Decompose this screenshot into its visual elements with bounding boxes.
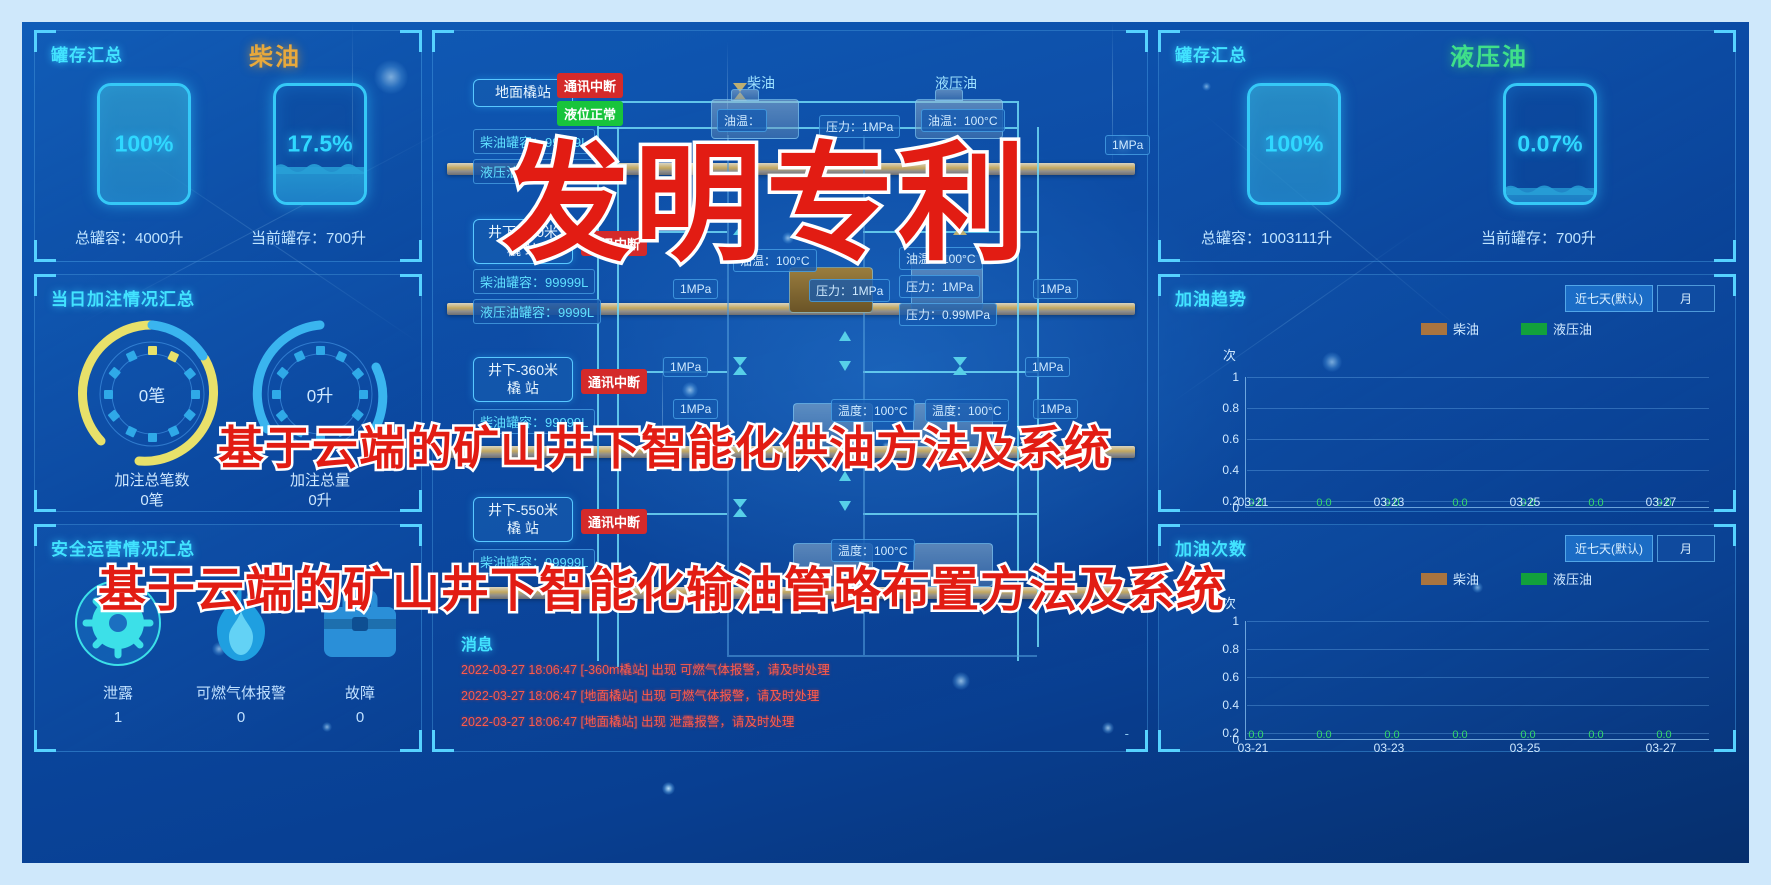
legend-label-diesel: 柴油 (1453, 569, 1479, 588)
safety-item-label: 泄露 (63, 682, 173, 703)
right-tank-summary-panel: 罐存汇总 液压油 100% 0.07% 总罐容：1003111升 当前罐存：70… (1158, 30, 1736, 262)
right-tank-current-percent: 0.07% (1503, 131, 1597, 158)
corner-decor (1714, 274, 1736, 296)
trend-legend-hydraulic[interactable]: 液压油 (1521, 319, 1592, 338)
fill-count-value: 0笔 (77, 382, 227, 407)
corner-decor (400, 490, 422, 512)
pressure-chip: 1MPa (1033, 279, 1078, 299)
trend-point-label: 0.0 (1581, 497, 1611, 509)
zoom-out-button[interactable]: - (1125, 726, 1129, 741)
pressure-chip: 1MPa (663, 357, 708, 377)
count-point-label: 0.0 (1649, 729, 1679, 741)
corner-decor (1714, 240, 1736, 262)
corner-decor (400, 240, 422, 262)
fill-count-caption-line1: 加注总笔数 (77, 471, 227, 491)
count-legend-diesel[interactable]: 柴油 (1421, 569, 1479, 588)
fill-volume-value: 0升 (245, 382, 395, 407)
corner-decor (34, 490, 56, 512)
safety-item-label: 可燃气体报警 (175, 682, 307, 703)
right-tank-total-percent: 100% (1247, 131, 1341, 158)
left-tank-panel-title: 罐存汇总 (51, 41, 123, 66)
fill-volume-caption-line2: 0升 (245, 491, 395, 511)
left-tank-summary-panel: 罐存汇总 柴油 100% 17.5% 总罐容：4000升 当前罐存：700升 (34, 30, 422, 262)
trend-ytick: 0.6 (1205, 432, 1239, 446)
count-xtick: 03-25 (1495, 741, 1555, 755)
trend-xtick: 03-25 (1495, 495, 1555, 509)
station-badge-comm-loss: 通讯中断 (557, 73, 623, 98)
corner-decor (1158, 240, 1180, 262)
message-log-line: 2022-03-27 18:06:47 [地面橇站] 出现 泄露报警，请及时处理 (461, 711, 794, 730)
count-ytick: 0.8 (1205, 642, 1239, 656)
corner-decor (34, 730, 56, 752)
message-log-line: 2022-03-27 18:06:47 [-360m橇站] 出现 可燃气体报警，… (461, 659, 830, 678)
corner-decor (400, 730, 422, 752)
right-tank-total-capacity: 总罐容：1003111升 (1201, 227, 1332, 248)
station-badge-comm-loss: 通讯中断 (581, 509, 647, 534)
trend-legend-diesel[interactable]: 柴油 (1421, 319, 1479, 338)
left-tank-product-label: 柴油 (155, 37, 395, 72)
watermark-subtitle-line1: 基于云端的矿山井下智能化供油方法及系统 (218, 412, 1111, 478)
count-xtick: 03-21 (1223, 741, 1283, 755)
trend-ytick: 1 (1205, 370, 1239, 384)
count-point-label: 0.0 (1445, 729, 1475, 741)
left-tank-current-percent: 17.5% (273, 131, 367, 158)
count-xtick: 03-27 (1631, 741, 1691, 755)
flow-arrow-down-icon (839, 501, 851, 511)
corner-decor (1714, 524, 1736, 546)
dashboard-stage: 罐存汇总 柴油 100% 17.5% 总罐容：4000升 当前罐存：700升 (22, 22, 1749, 863)
pressure-chip: 1MPa (1105, 135, 1150, 155)
corner-decor (1714, 30, 1736, 52)
message-log-title: 消息 (461, 631, 493, 655)
count-range-week-button[interactable]: 近七天(默认) (1565, 535, 1653, 562)
trend-xtick: 03-27 (1631, 495, 1691, 509)
count-point-label: 0.0 (1377, 729, 1407, 741)
station-name-line1: 井下-360米 (482, 362, 564, 380)
legend-label-diesel: 柴油 (1453, 319, 1479, 338)
safety-item-label: 故障 (313, 682, 407, 703)
trend-ytick: 0.4 (1205, 463, 1239, 477)
legend-swatch-hydraulic (1521, 323, 1547, 335)
corner-decor (1714, 490, 1736, 512)
station-name-line2: 橇 站 (482, 380, 564, 398)
fill-count-caption-line2: 0笔 (77, 491, 227, 511)
trend-point-label: 0.0 (1445, 497, 1475, 509)
corner-decor (34, 240, 56, 262)
count-point-label: 0.0 (1513, 729, 1543, 741)
meter-pressure-099: 压力：0.99MPa (899, 303, 997, 326)
count-range-month-button[interactable]: 月 (1657, 535, 1715, 562)
wave-icon (1503, 181, 1597, 195)
trend-point-label: 0.0 (1309, 497, 1339, 509)
tank-fill (1506, 188, 1594, 202)
left-tank-total-percent: 100% (97, 131, 191, 158)
pressure-chip: 1MPa (1025, 357, 1070, 377)
corner-decor (1126, 730, 1148, 752)
count-point-label: 0.0 (1581, 729, 1611, 741)
count-ytick: 0.6 (1205, 670, 1239, 684)
trend-range-month-button[interactable]: 月 (1657, 285, 1715, 312)
trend-xtick: 03-23 (1359, 495, 1419, 509)
tank-fill (276, 167, 364, 202)
trend-xtick: 03-21 (1223, 495, 1283, 509)
message-log-line: 2022-03-27 18:06:47 [地面橇站] 出现 可燃气体报警，请及时… (461, 685, 819, 704)
station-minus-550[interactable]: 井下-550米 橇 站 (473, 497, 573, 542)
corner-decor (1714, 730, 1736, 752)
fill-count-caption: 加注总笔数 0笔 (77, 471, 227, 512)
refuel-trend-panel: 加油趋势 近七天(默认) 月 柴油 液压油 次 1 0.8 0.6 0.4 (1158, 274, 1736, 512)
legend-swatch-diesel (1421, 573, 1447, 585)
dashboard-screen: 罐存汇总 柴油 100% 17.5% 总罐容：4000升 当前罐存：700升 (0, 0, 1771, 885)
count-legend-hydraulic[interactable]: 液压油 (1521, 569, 1592, 588)
legend-label-hydraulic: 液压油 (1553, 569, 1592, 588)
corner-decor (400, 524, 422, 546)
count-point-label: 0.0 (1241, 729, 1271, 741)
station-minus-360[interactable]: 井下-360米 橇 站 (473, 357, 573, 402)
trend-ytick: 0.8 (1205, 401, 1239, 415)
corner-decor (432, 30, 454, 52)
legend-swatch-hydraulic (1521, 573, 1547, 585)
safety-item-value: 0 (175, 709, 307, 726)
count-ytick: 0.4 (1205, 698, 1239, 712)
station-hydraulic-capacity: 液压油罐容：9999L (473, 299, 601, 324)
right-tank-current-stock: 当前罐存：700升 (1481, 227, 1596, 248)
refuel-count-panel: 03-21 03-23 03-25 03-27 加油次数 近七天(默认) 月 柴… (1158, 524, 1736, 752)
trend-chart-title: 加油趋势 (1175, 285, 1247, 310)
station-badge-comm-loss: 通讯中断 (581, 369, 647, 394)
corner-decor (432, 730, 454, 752)
count-point-label: 0.0 (1309, 729, 1339, 741)
wave-icon (273, 160, 367, 174)
right-tank-product-label: 液压油 (1339, 37, 1639, 72)
left-tank-total-capacity: 总罐容：4000升 (75, 227, 183, 248)
corner-decor (1126, 30, 1148, 52)
trend-y-unit: 次 (1223, 345, 1236, 364)
count-xtick: 03-23 (1359, 741, 1419, 755)
left-tank-current-stock: 当前罐存：700升 (251, 227, 366, 248)
corner-decor (1158, 730, 1180, 752)
flow-arrow-up-icon (839, 331, 851, 341)
safety-item-value: 0 (313, 709, 407, 726)
station-name-line2: 橇 站 (482, 520, 564, 538)
watermark-subtitle-line2: 基于云端的矿山井下智能化输油管路布置方法及系统 (98, 550, 1225, 620)
station-name-line1: 井下-550米 (482, 502, 564, 520)
right-tank-panel-title: 罐存汇总 (1175, 41, 1247, 66)
watermark-patent-title: 发明专利 (502, 100, 1030, 285)
daily-filling-title: 当日加注情况汇总 (51, 285, 195, 310)
safety-item-value: 1 (63, 709, 173, 726)
corner-decor (1158, 490, 1180, 512)
legend-label-hydraulic: 液压油 (1553, 319, 1592, 338)
fill-count-gauge: 0笔 (77, 319, 227, 469)
legend-swatch-diesel (1421, 323, 1447, 335)
corner-decor (400, 30, 422, 52)
trend-range-week-button[interactable]: 近七天(默认) (1565, 285, 1653, 312)
corner-decor (400, 274, 422, 296)
flow-arrow-down-icon (839, 361, 851, 371)
